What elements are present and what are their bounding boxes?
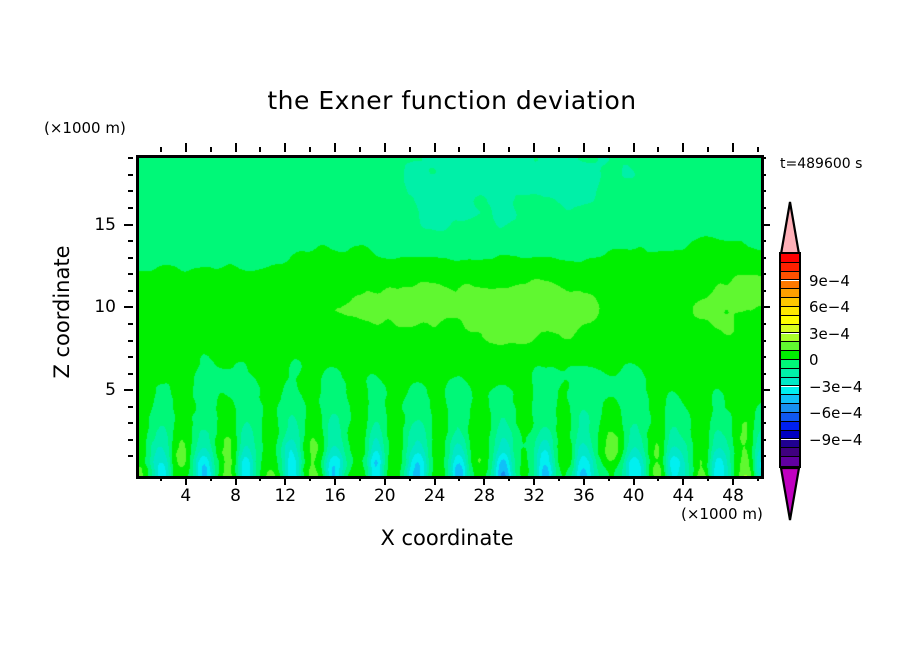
y-tick-minor-right [761,174,766,176]
chart-title: the Exner function deviation [0,86,904,115]
time-annotation: t=489600 s [780,156,862,172]
colorbar-swatch [781,263,799,272]
x-tick-label: 28 [464,486,504,506]
x-tick-major [334,476,336,485]
x-tick-label: 16 [315,486,355,506]
x-tick-major-top [633,143,635,152]
colorbar-tick-label: 9e−4 [809,272,850,290]
y-tick-minor [128,240,133,242]
y-tick-minor-right [761,273,766,275]
y-tick-minor-right [761,290,766,292]
colorbar-swatch [781,281,799,290]
x-tick-label: 4 [166,486,206,506]
x-tick-major-top [483,143,485,152]
x-tick-major-top [732,143,734,152]
colorbar-swatch [781,440,799,449]
x-tick-major [533,476,535,485]
y-tick-minor [128,273,133,275]
x-tick-label: 48 [713,486,753,506]
y-tick-minor [128,373,133,375]
x-tick-minor-top [458,147,460,152]
x-tick-major [434,476,436,485]
colorbar-swatch [781,307,799,316]
colorbar-over-arrow [779,200,801,254]
colorbar-tick-label: −9e−4 [809,431,862,449]
x-tick-minor [458,476,460,481]
y-tick-minor-right [761,356,766,358]
x-tick-label: 44 [663,486,703,506]
x-tick-minor-top [309,147,311,152]
y-tick-major [124,224,133,226]
x-tick-major [384,476,386,485]
colorbar-tick-label: 6e−4 [809,298,850,316]
colorbar-swatch [781,342,799,351]
x-axis-unit-label: (×1000 m) [681,505,763,523]
x-tick-major [235,476,237,485]
x-tick-minor [657,476,659,481]
colorbar-swatch [781,404,799,413]
x-tick-label: 36 [564,486,604,506]
x-tick-minor [309,476,311,481]
colorbar-swatch [781,334,799,343]
colorbar-swatch [781,316,799,325]
colorbar-under-arrow [779,466,801,520]
x-tick-minor [757,476,759,481]
x-tick-major [732,476,734,485]
y-tick-label: 5 [76,380,116,400]
y-tick-minor [128,455,133,457]
y-tick-minor [128,323,133,325]
x-tick-minor-top [657,147,659,152]
x-tick-minor [160,476,162,481]
x-tick-major [633,476,635,485]
x-tick-label: 40 [614,486,654,506]
colorbar-swatch [781,289,799,298]
y-axis-unit-label: (×1000 m) [44,119,126,137]
x-tick-minor [210,476,212,481]
y-tick-minor-right [761,422,766,424]
chart-root: the Exner function deviation (×1000 m) Z… [0,0,904,654]
y-tick-label: 10 [76,297,116,317]
y-tick-major [124,389,133,391]
y-tick-minor [128,190,133,192]
x-tick-minor-top [359,147,361,152]
y-tick-minor-right [761,406,766,408]
y-tick-minor-right [761,323,766,325]
y-tick-minor-right [761,190,766,192]
y-tick-minor [128,257,133,259]
y-tick-minor [128,290,133,292]
y-tick-minor [128,356,133,358]
y-tick-minor [128,157,133,159]
x-tick-label: 12 [265,486,305,506]
y-tick-minor-right [761,207,766,209]
colorbar-swatch [781,298,799,307]
colorbar-swatch [781,369,799,378]
colorbar-tick-label: 0 [809,351,819,369]
x-tick-minor [707,476,709,481]
x-tick-label: 8 [216,486,256,506]
x-tick-major [682,476,684,485]
x-tick-major [185,476,187,485]
x-tick-minor-top [409,147,411,152]
colorbar-swatch [781,395,799,404]
colorbar-swatch [781,422,799,431]
y-tick-minor-right [761,455,766,457]
x-tick-minor [508,476,510,481]
x-tick-minor-top [160,147,162,152]
x-tick-major-top [583,143,585,152]
x-tick-minor [359,476,361,481]
x-axis-label: X coordinate [136,526,758,550]
x-tick-label: 20 [365,486,405,506]
y-tick-minor [128,174,133,176]
x-tick-major-top [334,143,336,152]
plot-area [136,155,764,479]
colorbar-swatch [781,325,799,334]
x-tick-minor [259,476,261,481]
y-tick-label: 15 [76,215,116,235]
y-tick-major-right [761,389,770,391]
y-tick-minor-right [761,340,766,342]
colorbar-swatch [781,387,799,396]
colorbar-swatch [781,351,799,360]
x-tick-major-top [235,143,237,152]
colorbar-tick-label: −6e−4 [809,404,862,422]
x-tick-major-top [284,143,286,152]
colorbar-swatch [781,378,799,387]
y-tick-major-right [761,224,770,226]
y-tick-major-right [761,306,770,308]
x-tick-major-top [434,143,436,152]
y-tick-minor [128,422,133,424]
y-tick-minor-right [761,373,766,375]
x-tick-major [483,476,485,485]
x-tick-minor-top [757,147,759,152]
x-tick-label: 32 [514,486,554,506]
x-tick-minor-top [707,147,709,152]
x-tick-minor-top [558,147,560,152]
x-tick-minor-top [259,147,261,152]
y-tick-major [124,306,133,308]
x-tick-minor-top [508,147,510,152]
x-tick-label: 24 [415,486,455,506]
heatmap-canvas [139,158,761,476]
colorbar-swatch [781,448,799,457]
y-tick-minor-right [761,439,766,441]
x-tick-major-top [185,143,187,152]
colorbar-swatch [781,431,799,440]
colorbar-swatch [781,254,799,263]
y-tick-minor-right [761,240,766,242]
colorbar-swatch [781,272,799,281]
x-tick-minor [409,476,411,481]
x-tick-minor-top [210,147,212,152]
x-tick-minor [608,476,610,481]
y-tick-minor [128,340,133,342]
x-tick-major-top [384,143,386,152]
x-tick-major-top [533,143,535,152]
colorbar-tick-label: −3e−4 [809,378,862,396]
x-tick-minor-top [608,147,610,152]
colorbar-tick-label: 3e−4 [809,325,850,343]
colorbar: 9e−46e−43e−40−3e−4−6e−4−9e−4 [779,200,801,520]
x-tick-major [284,476,286,485]
y-tick-minor [128,439,133,441]
y-tick-minor [128,406,133,408]
colorbar-swatch [781,360,799,369]
y-tick-minor-right [761,257,766,259]
colorbar-scale [779,252,801,468]
y-tick-minor-right [761,157,766,159]
y-axis-label: Z coordinate [50,222,74,402]
x-tick-major-top [682,143,684,152]
colorbar-swatch [781,413,799,422]
x-tick-major [583,476,585,485]
y-tick-minor [128,207,133,209]
x-tick-minor [558,476,560,481]
colorbar-swatch [781,457,799,466]
